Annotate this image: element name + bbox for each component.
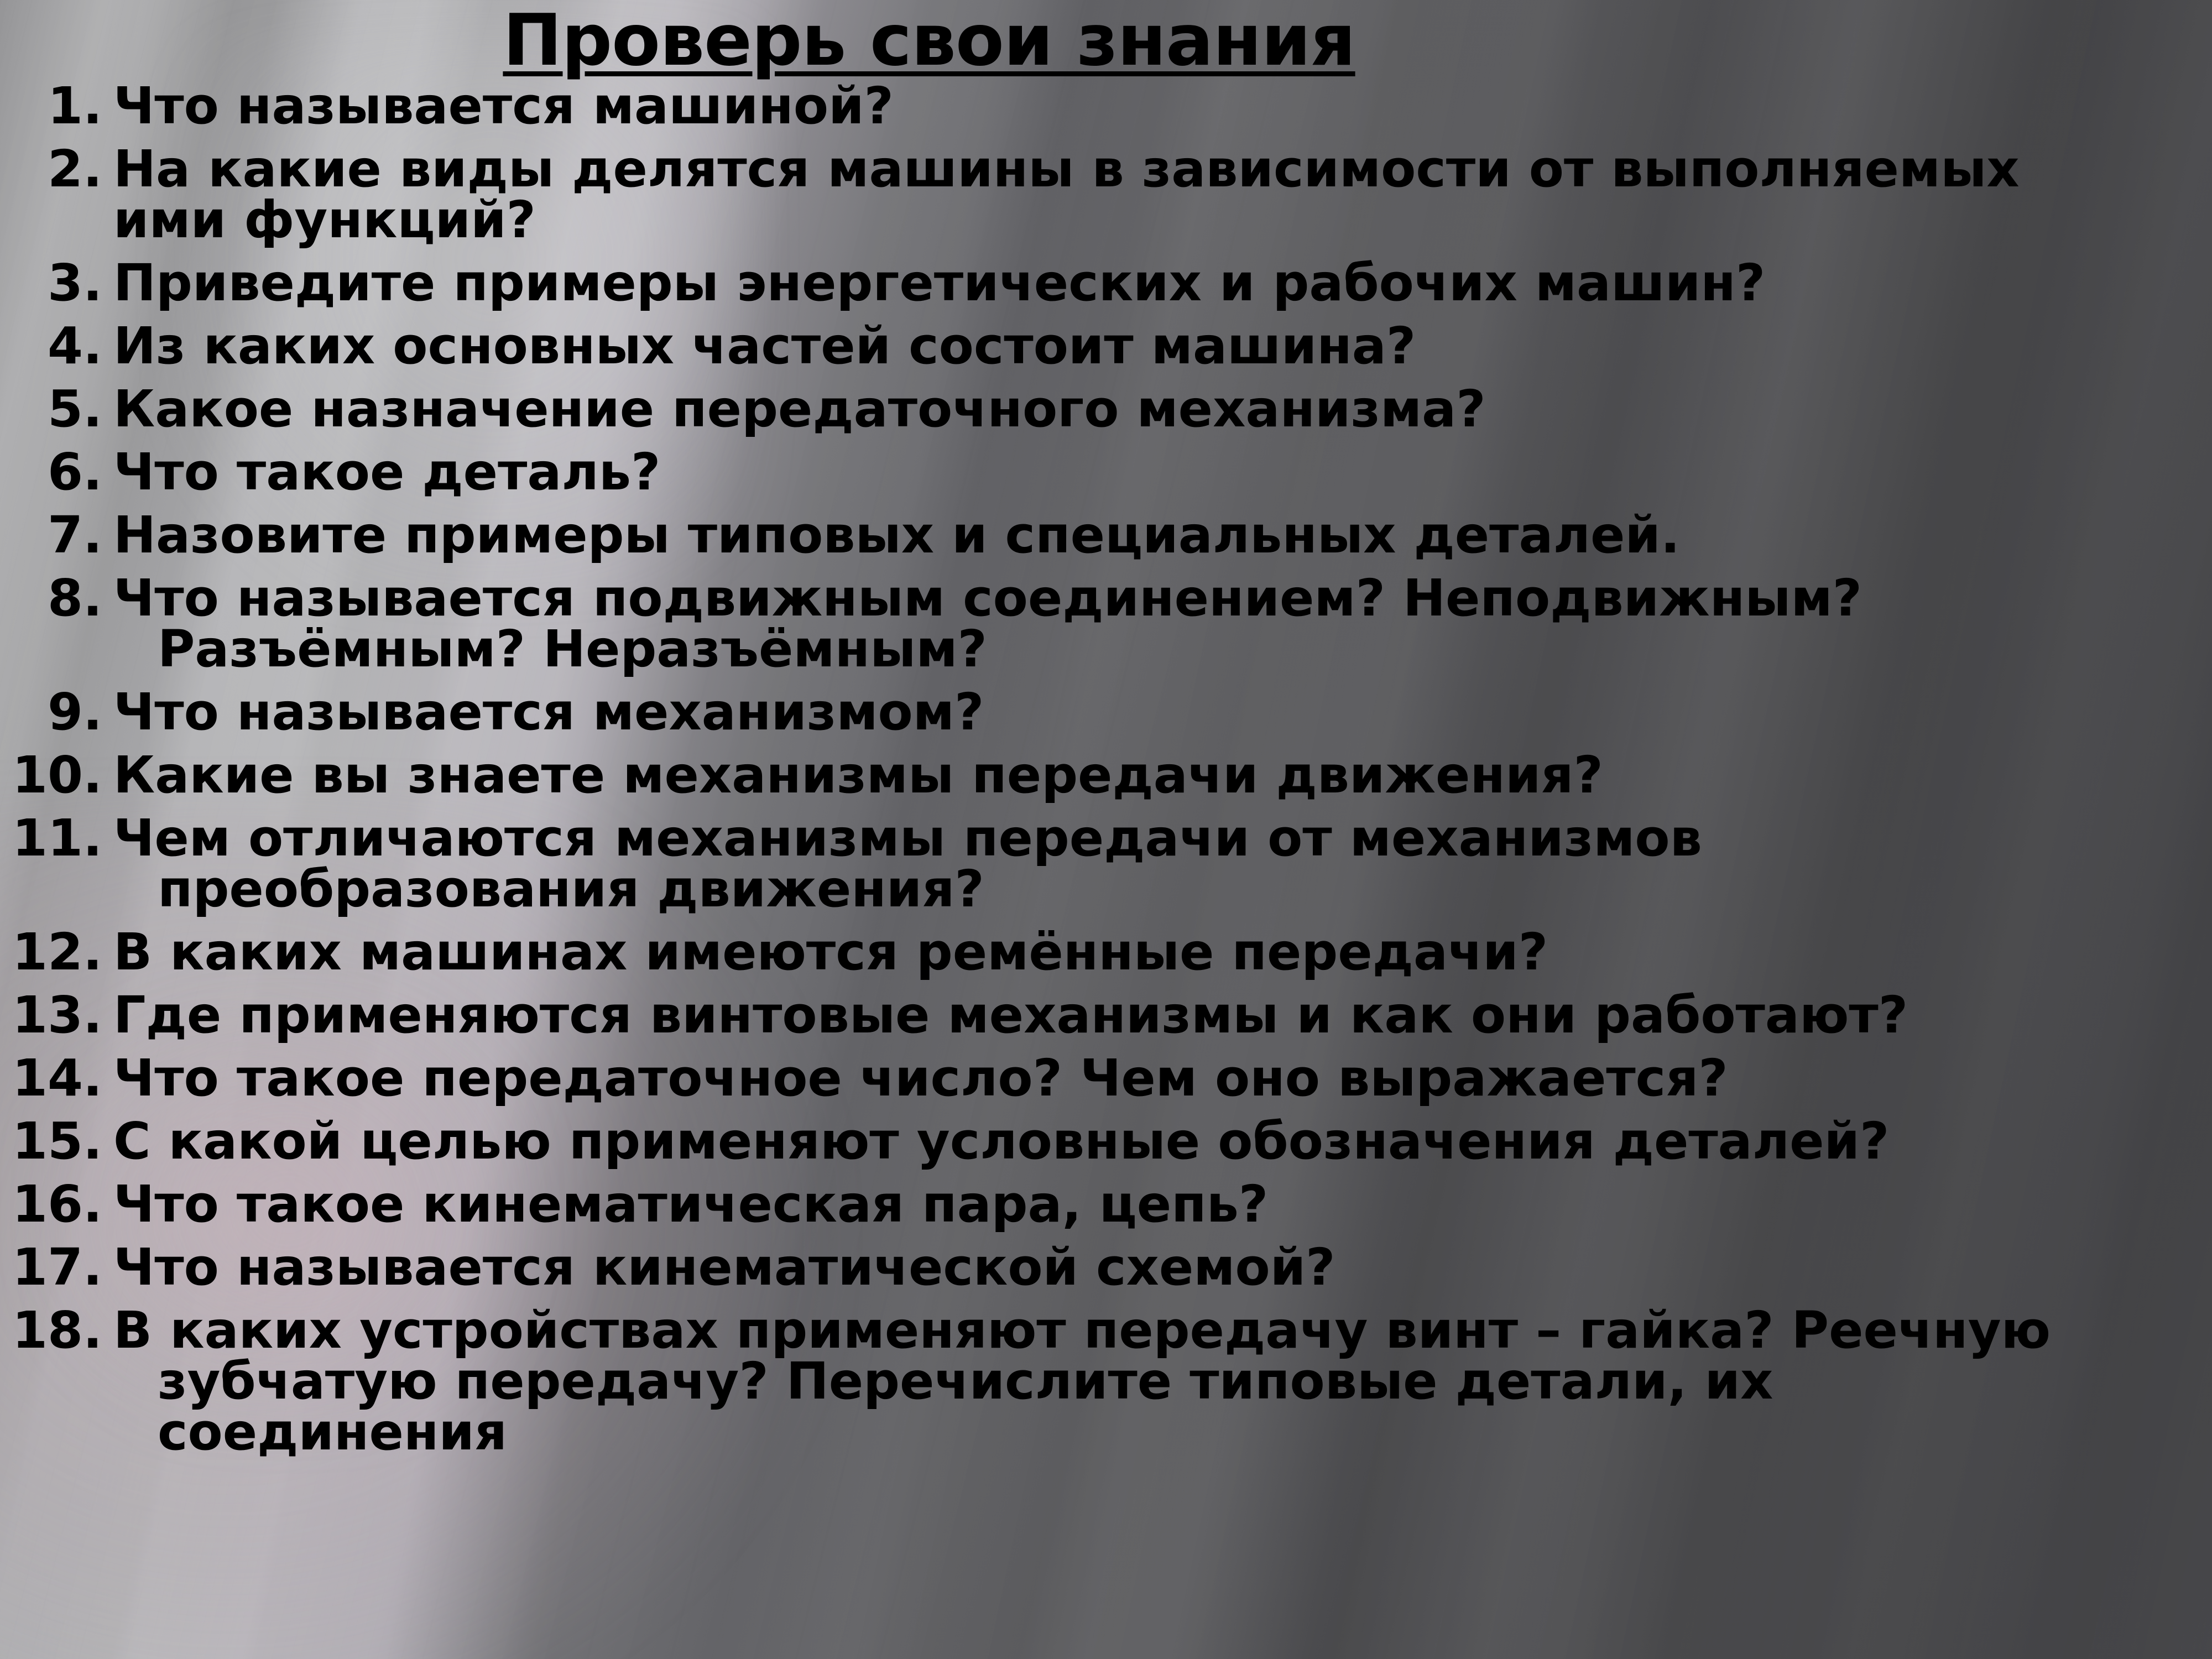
question-number: 2. [0,144,113,195]
question-text: Какое назначение передаточного механизма… [113,384,2137,435]
question-line: Что называется кинематической схемой? [113,1238,1335,1297]
question-number: 5. [0,384,113,435]
question-line: Что такое кинематическая пара, цепь? [113,1175,1268,1234]
question-text: С какой целью применяют условные обознач… [113,1116,2137,1167]
question-text: На какие виды делятся машины в зависимос… [113,144,2137,246]
question-line: Что называется машиной? [113,76,894,135]
question-item: 17.Что называется кинематической схемой? [0,1242,2212,1305]
page-title: Проверь свои знания [0,6,2212,76]
question-text: Чем отличаются механизмы передачи от мех… [113,813,2137,915]
question-line: Какие вы знаете механизмы передачи движе… [113,745,1603,805]
question-line: В каких машинах имеются ремённые передач… [113,922,1548,982]
question-number: 16. [0,1179,113,1230]
question-number: 10. [0,750,113,801]
question-text: Что называется машиной? [113,81,2137,132]
question-text: Что такое кинематическая пара, цепь? [113,1179,2137,1230]
question-item: 11.Чем отличаются механизмы передачи от … [0,813,2212,927]
question-number: 17. [0,1242,113,1293]
question-number: 15. [0,1116,113,1167]
question-line: Что называется механизмом? [113,682,984,742]
question-line: На какие виды делятся машины в зависимос… [113,139,2020,199]
question-line: Из каких основных частей состоит машина? [113,316,1416,375]
question-number: 18. [0,1305,113,1356]
question-text: Что такое передаточное число? Чем оно вы… [113,1053,2137,1104]
question-list: 1.Что называется машиной?2.На какие виды… [0,81,2212,1470]
question-number: 6. [0,447,113,498]
question-number: 14. [0,1053,113,1104]
question-item: 18.В каких устройствах применяют передач… [0,1305,2212,1470]
question-item: 14.Что такое передаточное число? Чем оно… [0,1053,2212,1116]
question-item: 13.Где применяются винтовые механизмы и … [0,990,2212,1053]
question-line: Что называется подвижным соединением? Не… [113,568,1862,628]
question-item: 3.Приведите примеры энергетических и раб… [0,258,2212,321]
question-number: 3. [0,258,113,309]
question-item: 15.С какой целью применяют условные обоз… [0,1116,2212,1179]
question-line: Приведите примеры энергетических и рабоч… [113,253,1765,312]
question-number: 12. [0,927,113,978]
question-number: 8. [0,573,113,624]
question-text: Что называется подвижным соединением? Не… [113,573,2137,675]
question-number: 1. [0,81,113,132]
question-line: преобразования движения? [113,864,2137,915]
question-line: Какое назначение передаточного механизма… [113,379,1486,439]
question-number: 7. [0,510,113,561]
question-item: 9.Что называется механизмом? [0,687,2212,750]
question-line: Что такое деталь? [113,442,660,502]
question-text: Что такое деталь? [113,447,2137,498]
question-item: 12.В каких машинах имеются ремённые пере… [0,927,2212,990]
question-item: 2.На какие виды делятся машины в зависим… [0,144,2212,258]
question-item: 8.Что называется подвижным соединением? … [0,573,2212,687]
question-item: 16.Что такое кинематическая пара, цепь? [0,1179,2212,1242]
question-line: Разъёмным? Неразъёмным? [113,624,2137,675]
question-text: Что называется механизмом? [113,687,2137,738]
question-line: В каких устройствах применяют передачу в… [113,1301,2051,1360]
question-item: 1.Что называется машиной? [0,81,2212,144]
question-line: Где применяются винтовые механизмы и как… [113,985,1908,1045]
question-line: Назовите примеры типовых и специальных д… [113,505,1680,565]
question-number: 4. [0,321,113,372]
question-number: 13. [0,990,113,1041]
question-text: Какие вы знаете механизмы передачи движе… [113,750,2137,801]
question-text: Из каких основных частей состоит машина? [113,321,2137,372]
question-text: Приведите примеры энергетических и рабоч… [113,258,2137,309]
question-item: 10.Какие вы знаете механизмы передачи дв… [0,750,2212,813]
question-text: В каких машинах имеются ремённые передач… [113,927,2137,978]
question-text: Назовите примеры типовых и специальных д… [113,510,2137,561]
slide-content: Проверь свои знания 1.Что называется маш… [0,0,2212,1659]
question-item: 7.Назовите примеры типовых и специальных… [0,510,2212,573]
question-line: С какой целью применяют условные обознач… [113,1112,1889,1171]
question-item: 6.Что такое деталь? [0,447,2212,510]
question-text: Что называется кинематической схемой? [113,1242,2137,1293]
question-line: ими функций? [113,195,2137,246]
question-line: Что такое передаточное число? Чем оно вы… [113,1048,1728,1108]
question-text: Где применяются винтовые механизмы и как… [113,990,2137,1041]
question-line: зубчатую передачу? Перечислите типовые д… [113,1356,2137,1458]
presentation-slide: Проверь свои знания 1.Что называется маш… [0,0,2212,1659]
question-number: 11. [0,813,113,864]
question-item: 5.Какое назначение передаточного механиз… [0,384,2212,447]
page-title-text: Проверь свои знания [503,0,1355,82]
question-line: Чем отличаются механизмы передачи от мех… [113,808,1702,868]
question-number: 9. [0,687,113,738]
question-text: В каких устройствах применяют передачу в… [113,1305,2137,1458]
question-item: 4.Из каких основных частей состоит машин… [0,321,2212,384]
